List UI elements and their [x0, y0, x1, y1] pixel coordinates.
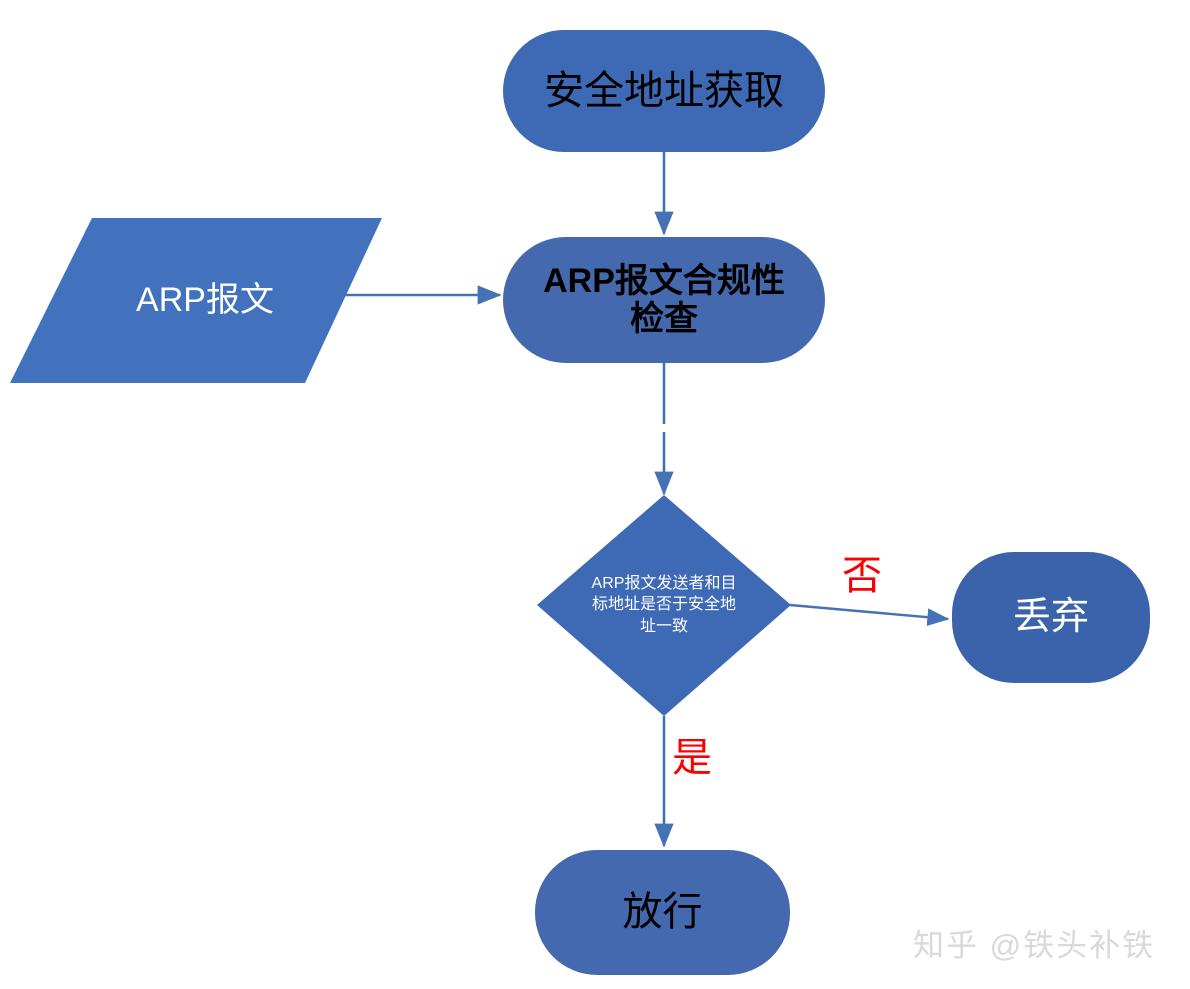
node-discard[interactable] [952, 552, 1150, 683]
flowchart-canvas: 安全地址获取 ARP报文 ARP报文合规性 检查 ARP报文发送者和目 标地址是… [0, 0, 1190, 989]
node-compliance-check[interactable] [503, 237, 825, 363]
node-allow[interactable] [535, 850, 790, 975]
node-address-match-decision[interactable] [537, 495, 791, 716]
connector-decision-to-discard [790, 605, 948, 619]
flowchart-shapes-layer [0, 0, 1190, 989]
node-secure-address[interactable] [503, 30, 825, 152]
node-arp-packet-input[interactable] [10, 218, 382, 383]
